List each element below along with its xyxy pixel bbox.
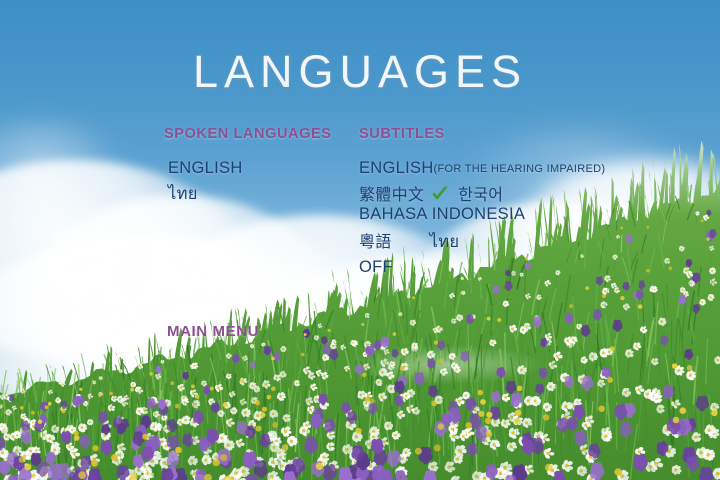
dvd-language-menu-screen: LANGUAGES SPOKEN LANGUAGES ENGLISH ไทย S… — [0, 0, 720, 480]
page-title: LANGUAGES — [0, 46, 720, 98]
subtitle-label: ENGLISH — [359, 159, 434, 177]
subtitle-note: (FOR THE HEARING IMPAIRED) — [434, 163, 606, 175]
subtitle-option-cantonese-thai[interactable]: 粵語ไทย — [359, 228, 459, 255]
subtitle-option-english-hearing-impaired[interactable]: ENGLISH(FOR THE HEARING IMPAIRED) — [359, 159, 605, 178]
subtitle-label: 繁體中文 — [359, 185, 424, 204]
main-menu-button[interactable]: MAIN MENU — [167, 323, 259, 340]
subtitle-option-bahasa-indonesia[interactable]: BAHASA INDONESIA — [359, 205, 525, 224]
check-icon — [430, 185, 450, 203]
subtitle-label: 粵語 — [359, 232, 392, 251]
subtitles-header: SUBTITLES — [359, 126, 445, 142]
subtitle-option-traditional-chinese-korean[interactable]: 繁體中文한국어 — [359, 181, 503, 205]
subtitle-label-secondary: ไทย — [430, 229, 460, 255]
spoken-language-option-english[interactable]: ENGLISH — [168, 159, 243, 178]
spoken-languages-header: SPOKEN LANGUAGES — [164, 126, 332, 142]
spoken-language-option-thai[interactable]: ไทย — [168, 181, 198, 207]
subtitle-option-off[interactable]: OFF — [359, 258, 393, 277]
subtitle-label-secondary: 한국어 — [458, 181, 503, 205]
